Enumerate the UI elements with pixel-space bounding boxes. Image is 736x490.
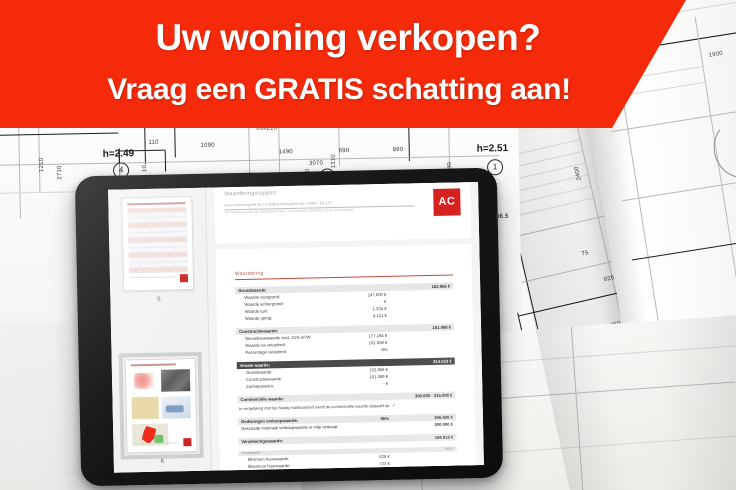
thumbnail-item[interactable]: 5: [108, 196, 207, 314]
thumbnail-page-5[interactable]: [121, 196, 194, 291]
ac-logo-icon: AC: [433, 188, 461, 216]
document-viewport[interactable]: Waarderingsrapport www.acimmogoed.be | i…: [206, 182, 484, 471]
thumb-table: [127, 207, 187, 263]
block-venale-waarde: Venale waarde: 314.023 € Grondwaarde: 15…: [237, 357, 456, 390]
thumb-map-street: [161, 396, 190, 419]
blueprint-dim: 3070: [309, 161, 323, 167]
blueprint-dim: 110: [148, 140, 158, 146]
block-grondwaarde: Grondwaarde: 152.956 € Waarde voorgrond:…: [235, 282, 454, 322]
blueprint-dim: 1090: [201, 143, 215, 149]
blueprint-dim: 690: [339, 148, 350, 154]
tablet-screen: 5 ----- -----: [108, 182, 484, 473]
thumbnail-page-number: 6: [161, 459, 164, 465]
blueprint-dim: 2710: [57, 165, 63, 179]
blueprint-dim: 890: [393, 147, 404, 153]
document-contact: www.acimmogoed.be | info@acimmogoed.be |…: [224, 201, 332, 207]
blueprint-height-tag: h=2.51: [477, 143, 509, 155]
thumb-map-aerial: [161, 369, 190, 392]
thumbnail-page-6[interactable]: ----- ----- -----: [125, 358, 198, 453]
thumbnail-item[interactable]: ----- ----- ----- 6: [112, 358, 211, 473]
thumb-map-cadastre: [131, 370, 158, 393]
thumb-map-terrain: [131, 397, 158, 420]
banner-subheadline: Vraag een GRATIS schatting aan!: [0, 73, 736, 107]
blueprint-dim: 1210: [39, 158, 45, 172]
blueprint-dim: 1310: [331, 154, 337, 168]
banner-headline: Uw woning verkopen?: [0, 17, 736, 59]
promo-image: 3350 5700 2400 900 375 75 925 900 450 12…: [0, 0, 736, 490]
pointer-icon: ↗: [391, 402, 394, 407]
document-page-header-card: Waarderingsrapport www.acimmogoed.be | i…: [214, 182, 471, 243]
tablet-device: 5 ----- -----: [75, 168, 503, 487]
thumbnail-sidebar[interactable]: 5 ----- -----: [108, 188, 212, 473]
document-title: Waarderingsrapport: [224, 186, 460, 197]
section-title-waardering: Waardering: [235, 267, 453, 280]
commerciele-note: In vergelijking met het huidig marktaanb…: [239, 401, 455, 411]
block-verzekeringswaarde: Verzekeringswaarde: 194.913 €: [238, 433, 456, 445]
thumb-logo-icon: [183, 438, 191, 446]
block-commerciele-waarde: Commerciële waarde: 300.000 - 315.000 € …: [237, 391, 455, 411]
thumbnail-page-number: 5: [157, 297, 160, 303]
thumb-footer-rule: [129, 276, 175, 278]
block-huurwaarde: Huurwaarde: 660 € Minimum huurwaarde: 62…: [239, 446, 457, 470]
block-header: Verzekeringswaarde: 194.913 €: [238, 433, 456, 445]
blueprint-dim: 86.5: [496, 214, 508, 220]
blueprint-dim: 10: [142, 165, 148, 172]
block-gedwongen-verkoopwaarde: Gedwongen verkoopwaarde: 85% 266.920 € G…: [238, 413, 456, 432]
thumb-title-rule: [127, 202, 185, 205]
blueprint-height-tag: h=2.49: [103, 148, 135, 160]
document-page-body: Waardering Grondwaarde: 152.956 € Waarde…: [215, 244, 476, 470]
thumb-title-rule: [131, 363, 176, 366]
pdf-reader: 5 ----- -----: [108, 182, 484, 473]
thumb-logo-icon: [180, 274, 188, 282]
blueprint-dim: 1490: [279, 149, 293, 155]
block-constructiewaarde: Constructiewaarde: 161.068 € Nieuwbouwwa…: [236, 323, 455, 356]
